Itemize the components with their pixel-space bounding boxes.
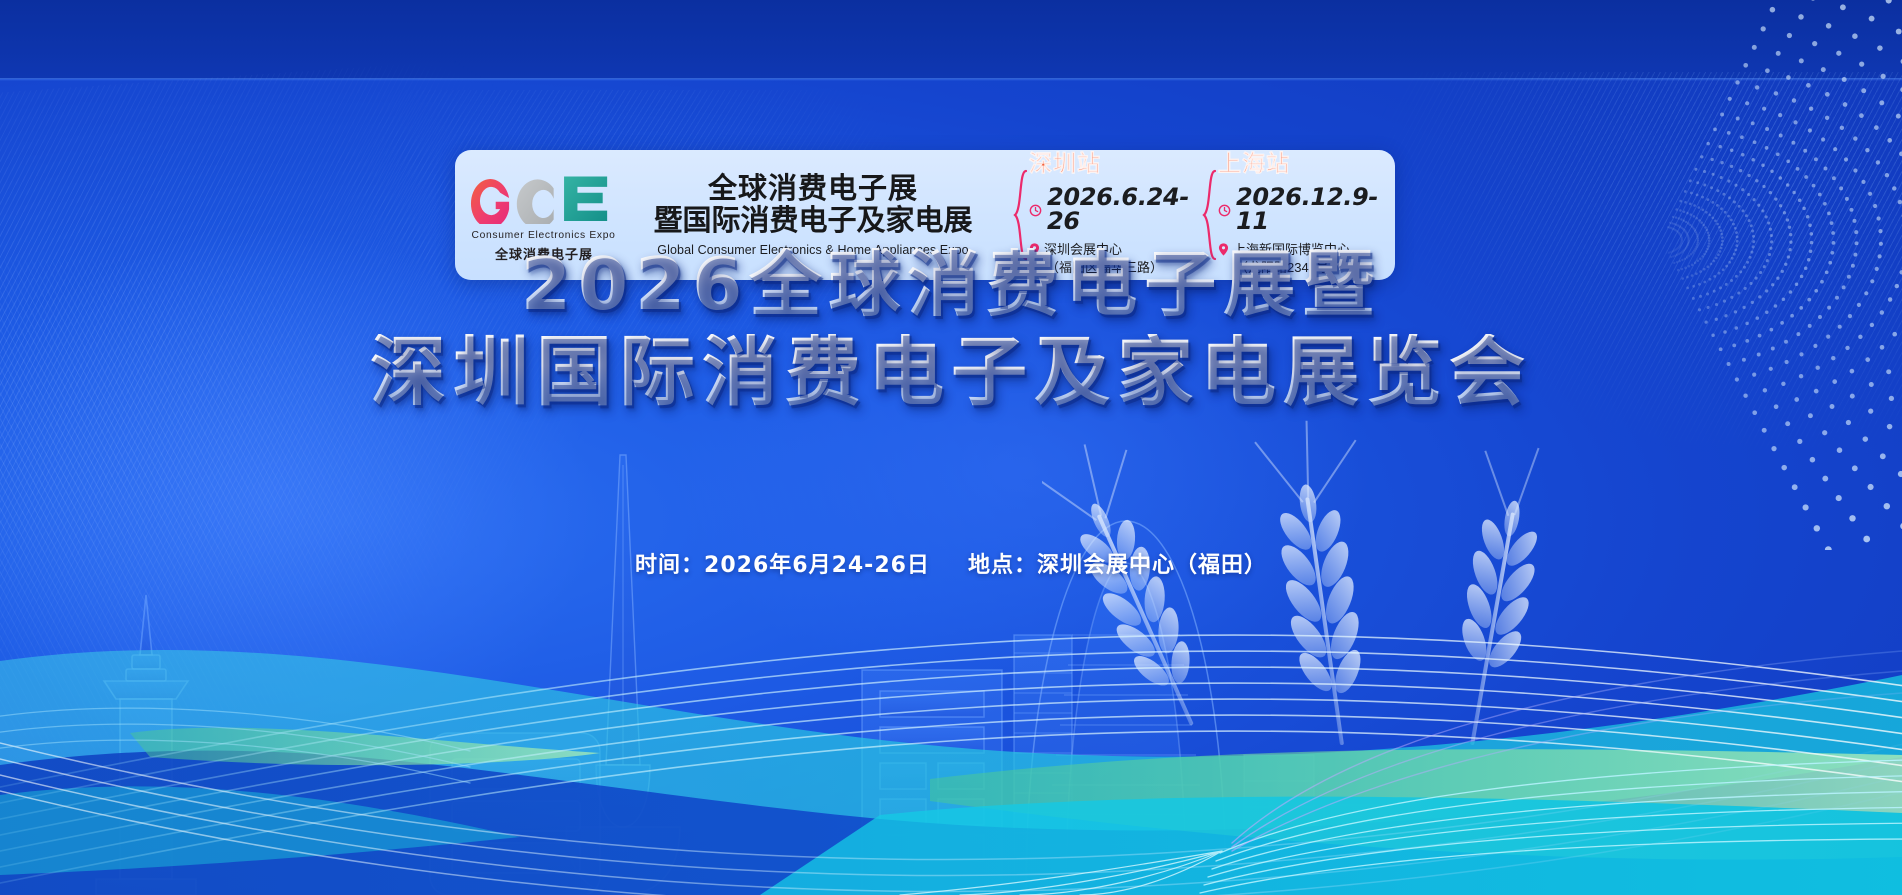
poster-canvas: Consumer Electronics Expo 全球消费电子展 全球消费电子… [0, 0, 1902, 895]
edition-city-label: 深圳站 [1029, 153, 1192, 176]
logo-english-tagline: Consumer Electronics Expo [472, 229, 616, 241]
clock-icon [1029, 204, 1042, 217]
place-value: 深圳会展中心（福田） [1037, 553, 1267, 578]
clock-icon [1218, 204, 1231, 217]
headline-line-1: 2026全球消费电子展暨 [0, 248, 1902, 320]
edition-date-row: 2026.12.9-11 [1218, 185, 1381, 233]
expo-name-line1: 全球消费电子展 [708, 173, 918, 204]
wave-decoration [0, 465, 1902, 895]
edition-date: 2026.12.9-11 [1236, 185, 1381, 233]
edition-date: 2026.6.24-26 [1047, 185, 1192, 233]
time-label: 时间： [635, 553, 704, 578]
event-info-line: 时间：2026年6月24-26日地点：深圳会展中心（福田） [0, 547, 1902, 579]
gce-logo-icon [466, 172, 622, 224]
headline-line-2: 深圳国际消费电子及家电展览会 [0, 334, 1902, 410]
time-value: 2026年6月24-26日 [704, 553, 930, 578]
expo-name-line2: 暨国际消费电子及家电展 [653, 204, 972, 236]
main-headline: 2026全球消费电子展暨 深圳国际消费电子及家电展览会 [0, 248, 1902, 410]
edition-city-label: 上海站 [1218, 153, 1381, 176]
place-label: 地点： [968, 553, 1037, 578]
edition-date-row: 2026.6.24-26 [1029, 185, 1192, 233]
